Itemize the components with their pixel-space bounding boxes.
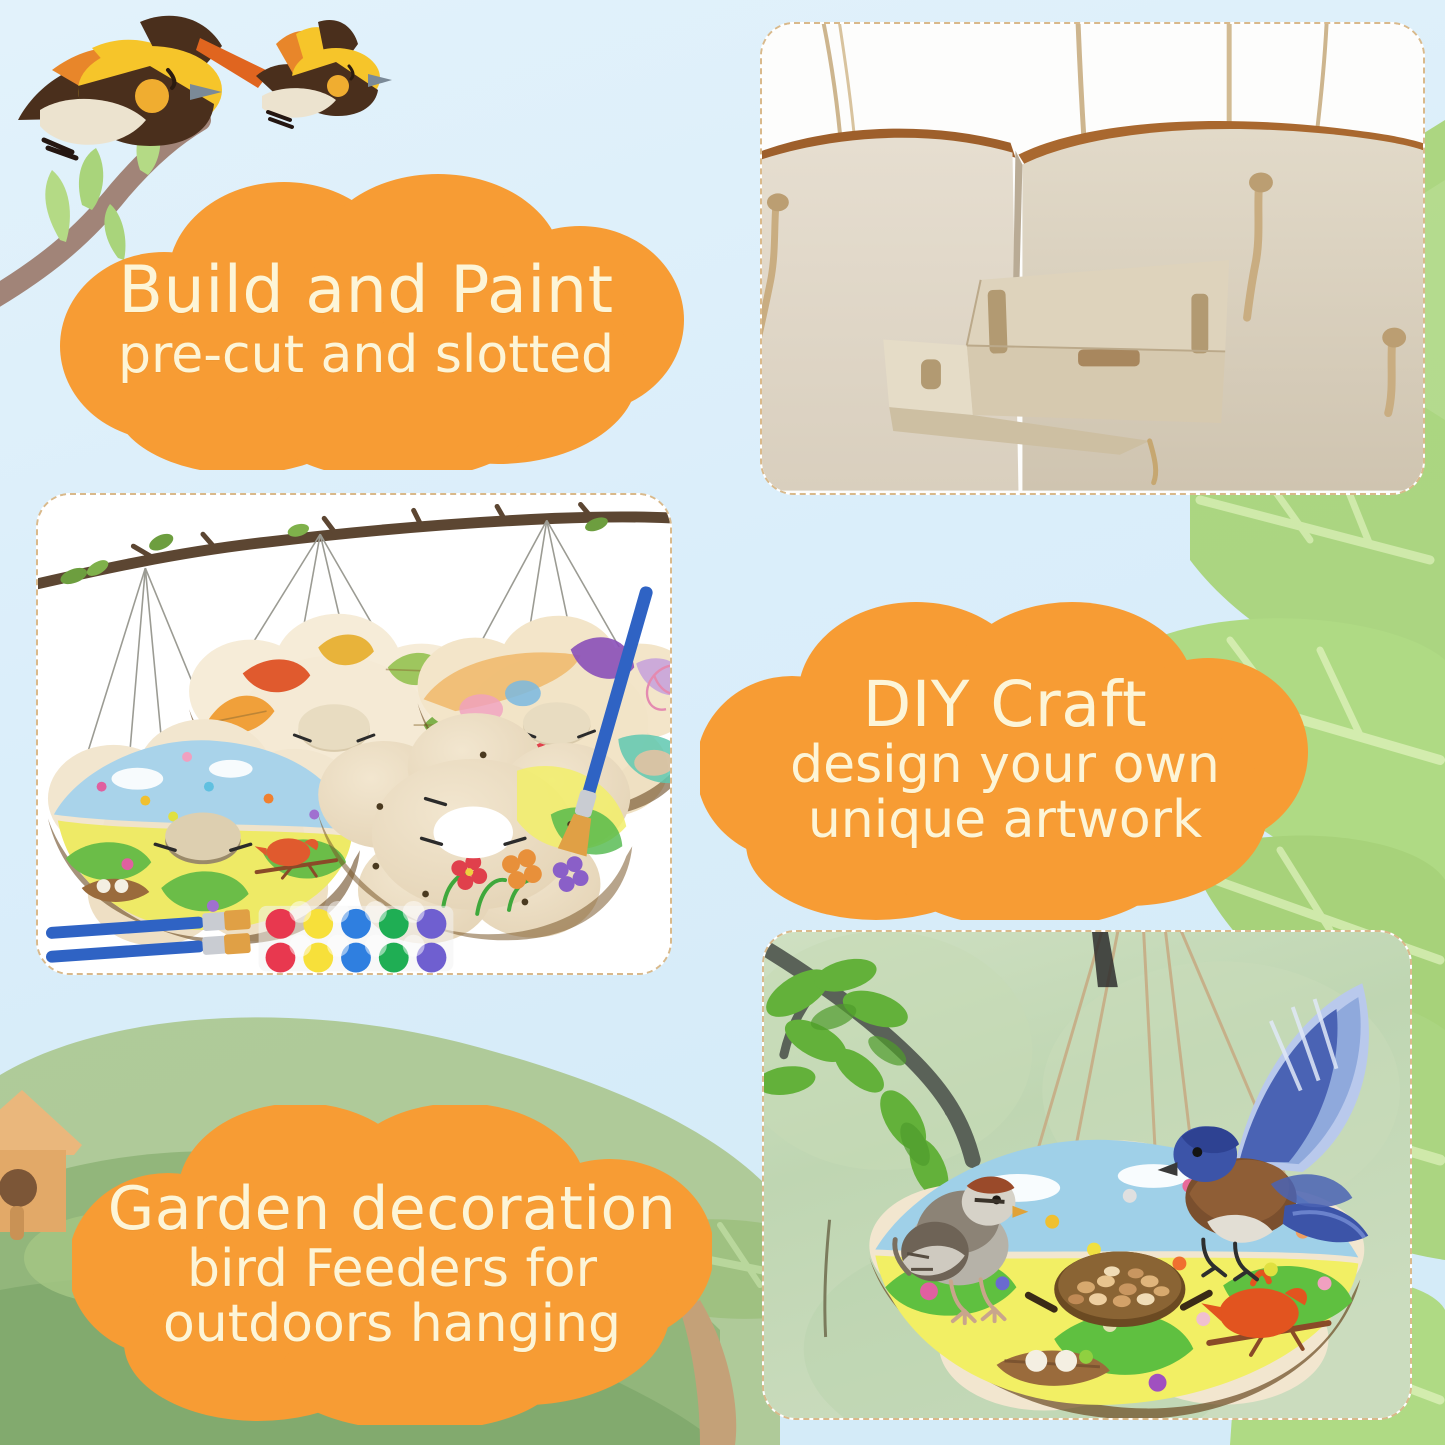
callout-subtitle: bird Feeders for [108,1242,677,1297]
callout-title: Garden decoration [108,1178,677,1242]
birds-on-feeder-image [764,932,1410,1418]
infographic-canvas: Build and Paint pre-cut and slotted [0,0,1445,1445]
painted-feeders-image [38,495,670,973]
photo-birds-on-feeder[interactable] [762,930,1412,1420]
callout-garden-decoration: Garden decoration bird Feeders for outdo… [72,1105,712,1425]
callout-title: Build and Paint [118,257,614,326]
callout-text: Build and Paint pre-cut and slotted [118,257,614,383]
callout-build-and-paint: Build and Paint pre-cut and slotted [46,170,686,470]
callout-text: Garden decoration bird Feeders for outdo… [108,1178,677,1352]
birdhouse-icon [0,1090,82,1240]
callout-diy-craft: DIY Craft design your own unique artwork [700,600,1310,920]
bird-illustration-large [18,16,222,158]
photo-feeder-underside-closeup[interactable] [760,22,1425,495]
callout-title: DIY Craft [790,672,1220,739]
callout-subtitle: pre-cut and slotted [118,328,614,383]
feeder-underside-image [762,24,1423,493]
callout-subtitle: design your own [790,738,1220,793]
callout-subtitle-2: unique artwork [790,793,1220,848]
callout-text: DIY Craft design your own unique artwork [790,672,1220,849]
callout-subtitle-2: outdoors hanging [108,1297,677,1352]
bird-illustration-small [196,20,392,127]
paint-palette [259,901,454,973]
photo-painted-feeders-and-supplies[interactable] [36,493,672,975]
